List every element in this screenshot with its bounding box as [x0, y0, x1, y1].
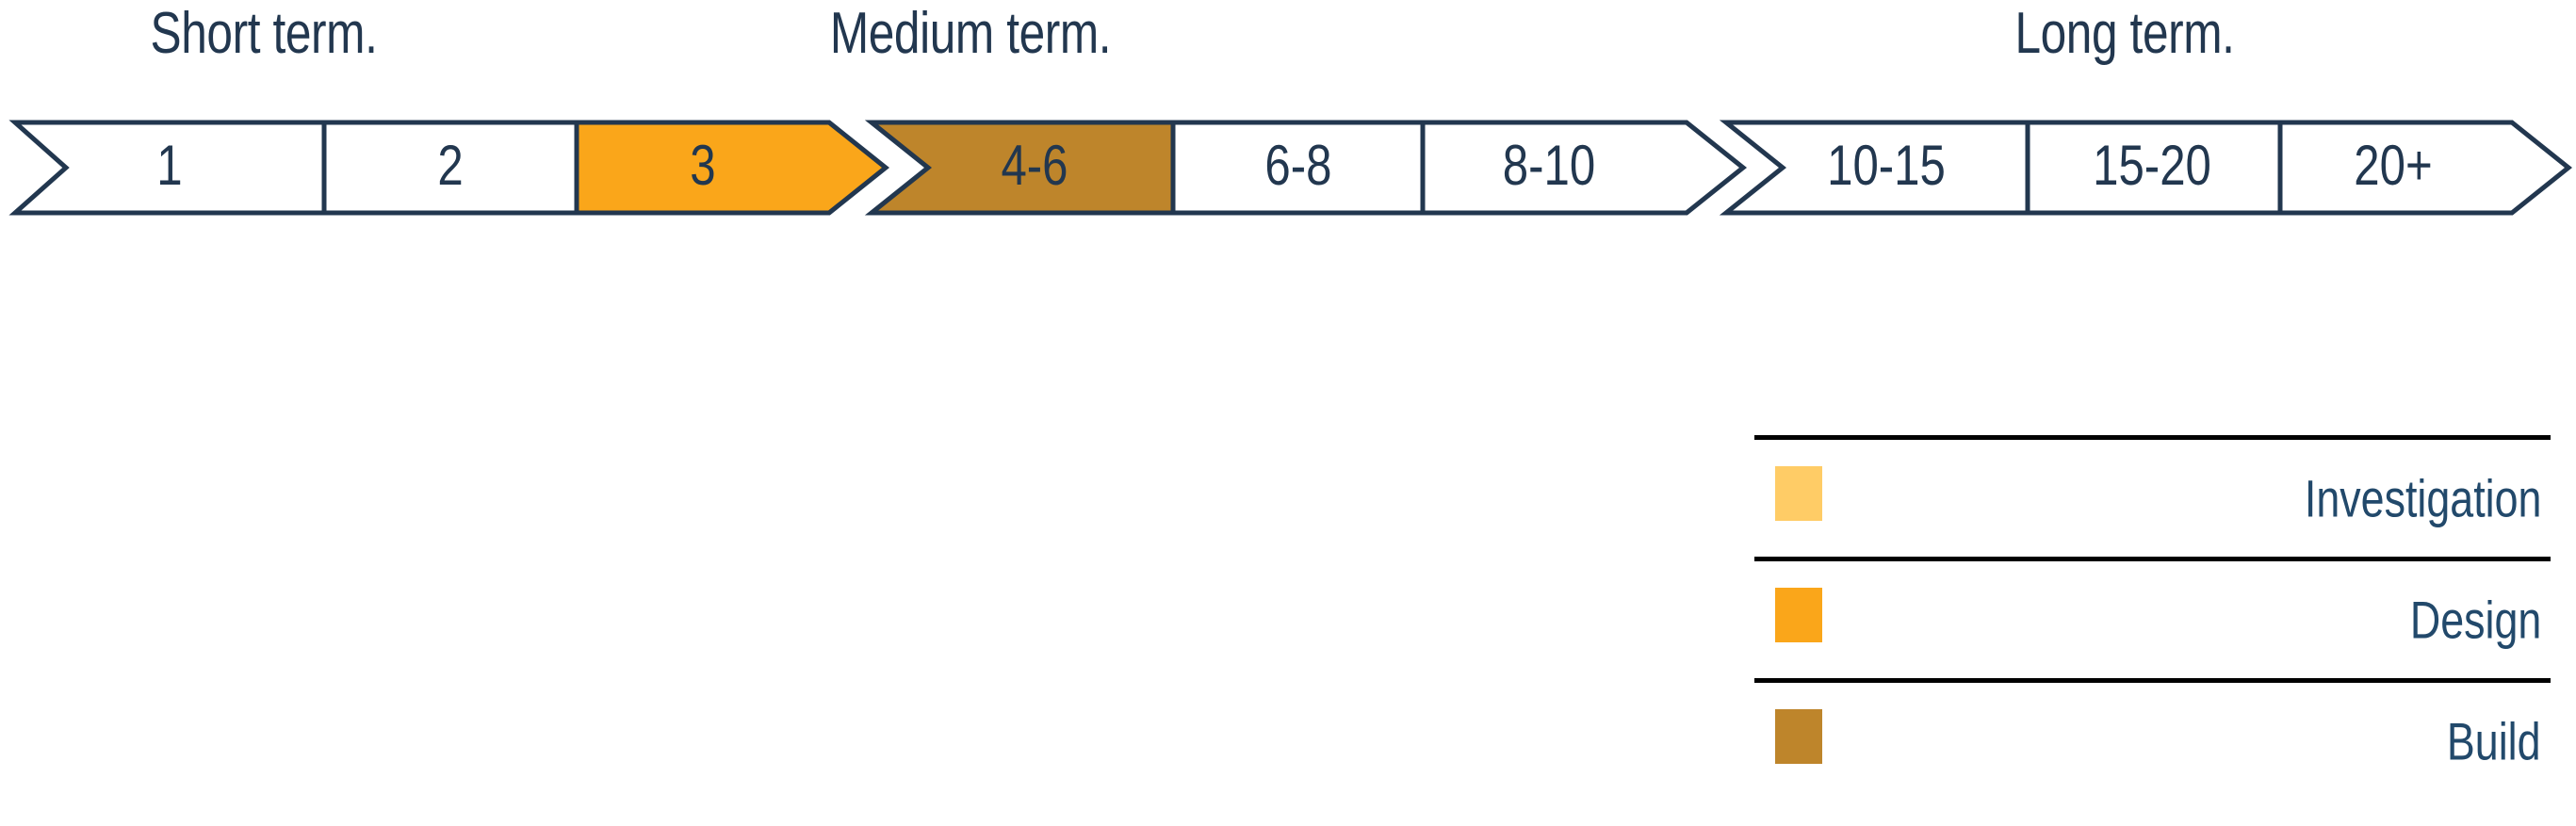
chevron-cell-6-8-label: 6-8 — [1264, 133, 1331, 197]
legend: Investigation Design Build — [1754, 435, 2551, 800]
chevron-group-short-term: 1 2 3 — [15, 122, 886, 213]
chevron-cell-15-20-label: 15-20 — [2093, 133, 2211, 197]
chevron-cell-10-15-label: 10-15 — [1827, 133, 1946, 197]
chevron-cell-3[interactable] — [577, 122, 886, 213]
legend-swatch-build-icon — [1775, 709, 1822, 764]
group-title-short-term: Short term. — [53, 0, 475, 67]
legend-row-investigation[interactable]: Investigation — [1754, 440, 2551, 557]
legend-row-build[interactable]: Build — [1754, 683, 2551, 800]
chevron-cell-1-label: 1 — [156, 133, 182, 197]
legend-label-build: Build — [2447, 711, 2541, 772]
chevron-cell-8-10-label: 8-10 — [1503, 133, 1595, 197]
chevron-group-medium-term: 4-6 6-8 8-10 — [872, 122, 1743, 213]
chevron-cell-2-label: 2 — [437, 133, 463, 197]
chevron-cell-3-label: 3 — [690, 133, 715, 197]
legend-swatch-investigation-icon — [1775, 466, 1822, 521]
timeline-diagram: Short term. Medium term. Long term. 1 2 … — [0, 0, 2576, 826]
chevron-cell-4-6-label: 4-6 — [1001, 133, 1068, 197]
legend-row-design[interactable]: Design — [1754, 561, 2551, 678]
chevron-group-long-term: 10-15 15-20 20+ — [1726, 122, 2568, 213]
chevron-cell-20-plus-label: 20+ — [2354, 133, 2432, 197]
group-title-medium-term: Medium term. — [579, 0, 1362, 67]
group-title-long-term: Long term. — [1767, 0, 2483, 67]
chevron-band: 1 2 3 4-6 6-8 8-10 10-15 15-20 20+ — [0, 111, 2576, 224]
legend-swatch-design-icon — [1775, 588, 1822, 642]
legend-label-investigation: Investigation — [2304, 468, 2541, 529]
legend-label-design: Design — [2410, 590, 2541, 651]
